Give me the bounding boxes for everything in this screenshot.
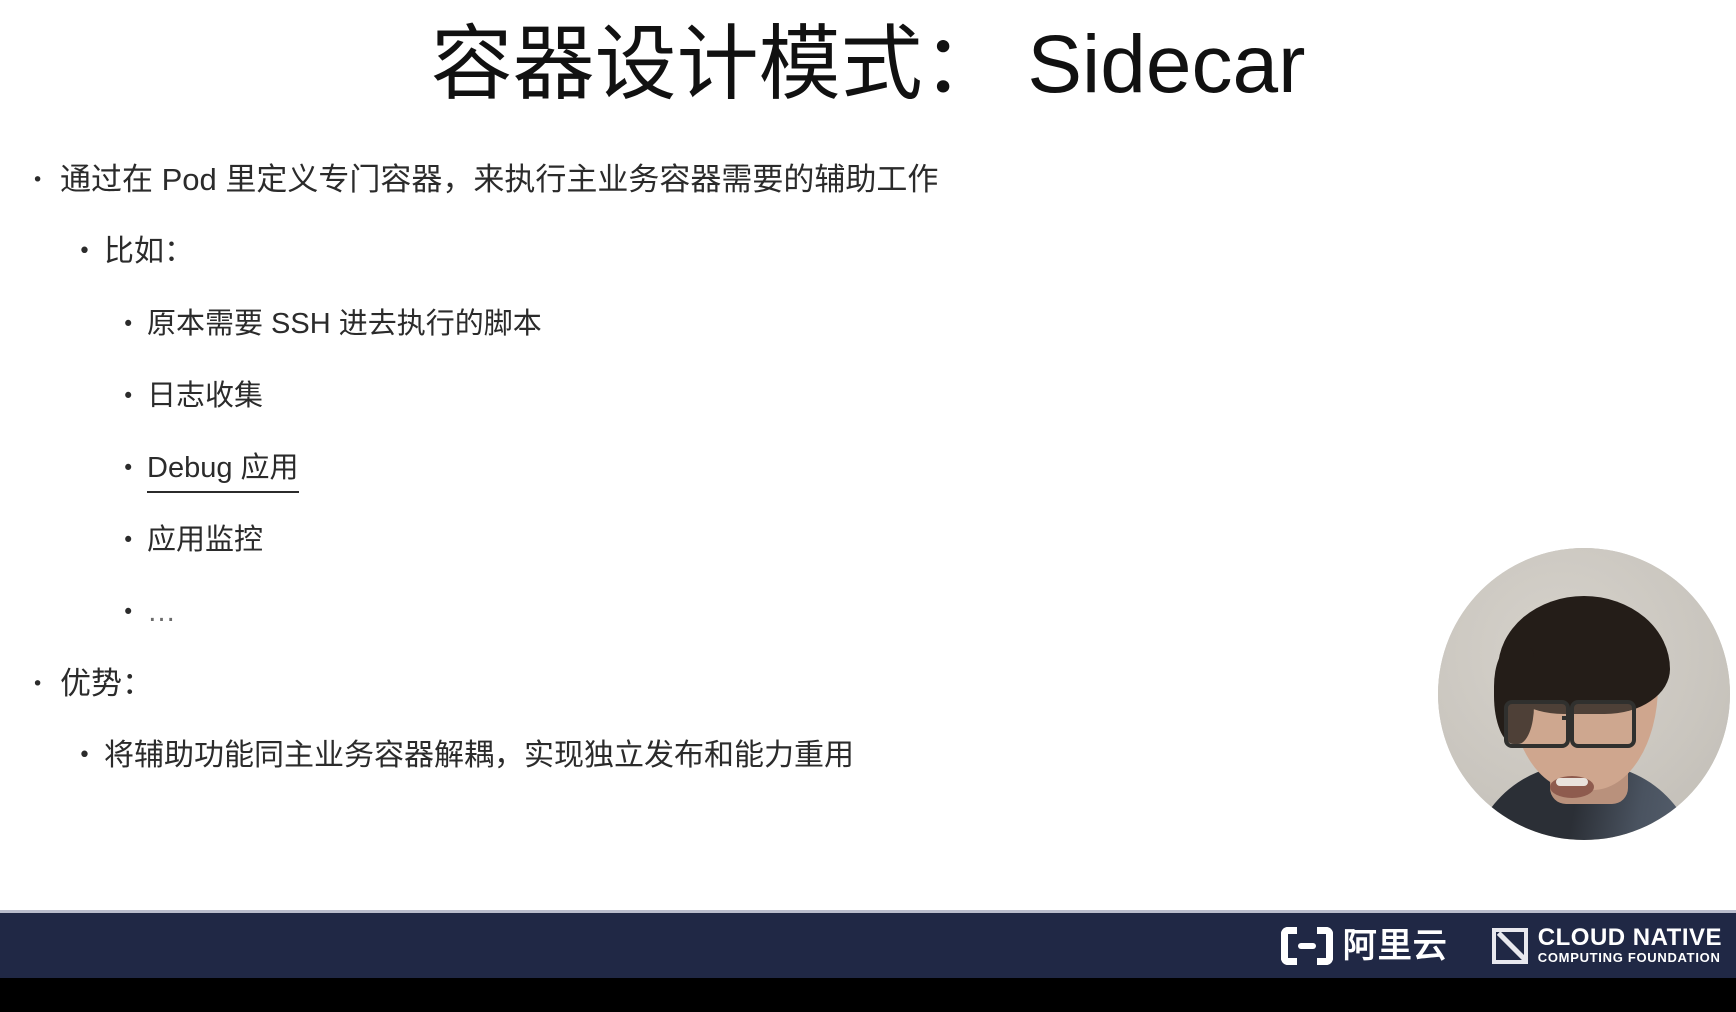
screen: 容器设计模式： Sidecar • 通过在 Pod 里定义专门容器，来执行主业务… xyxy=(0,0,1736,1012)
page-title: 容器设计模式： Sidecar xyxy=(0,18,1736,112)
bullet-marker: • xyxy=(78,736,104,776)
bullet-marker: • xyxy=(122,520,147,560)
list-item-label: 应用监控 xyxy=(147,520,263,560)
bullet-marker: • xyxy=(122,448,147,488)
bullet-marker: • xyxy=(32,160,60,200)
list-item-label: 优势： xyxy=(60,664,153,704)
glasses-bridge xyxy=(1562,716,1572,720)
list-item: • … xyxy=(0,592,1290,664)
alibaba-cloud-wordmark: 阿里云 xyxy=(1343,929,1448,963)
list-item-label: 比如： xyxy=(104,232,194,272)
cncf-mark-icon xyxy=(1492,928,1528,964)
cncf-wordmark-line2: COMPUTING FOUNDATION xyxy=(1538,950,1722,965)
list-item: • 通过在 Pod 里定义专门容器，来执行主业务容器需要的辅助工作 xyxy=(0,160,1290,232)
letterbox-bar xyxy=(0,978,1736,1012)
list-item: • 日志收集 xyxy=(0,376,1290,448)
bullet-marker: • xyxy=(122,376,147,416)
presenter-mouth xyxy=(1550,776,1594,798)
list-item-label: 日志收集 xyxy=(147,376,263,416)
list-item: • 应用监控 xyxy=(0,520,1290,592)
glasses-left-lens xyxy=(1504,700,1570,748)
list-item: • 原本需要 SSH 进去执行的脚本 xyxy=(0,304,1290,376)
list-item-label: 将辅助功能同主业务容器解耦，实现独立发布和能力重用 xyxy=(104,736,854,776)
footer-logo-group: 阿里云 CLOUD NATIVE COMPUTING FOUNDATION xyxy=(1281,926,1736,965)
list-item-label: 原本需要 SSH 进去执行的脚本 xyxy=(147,304,542,344)
cncf-wordmark-line1: CLOUD NATIVE xyxy=(1538,926,1722,950)
list-item: • 优势： xyxy=(0,664,1290,736)
slide-footer: 阿里云 CLOUD NATIVE COMPUTING FOUNDATION xyxy=(0,910,1736,978)
bullet-marker: • xyxy=(78,232,104,272)
bullet-marker: • xyxy=(122,304,147,344)
alibaba-cloud-mark-icon xyxy=(1281,927,1333,965)
list-item-label: Debug 应用 xyxy=(147,448,299,493)
list-item: • 比如： xyxy=(0,232,1290,304)
alibaba-cloud-logo: 阿里云 xyxy=(1281,927,1448,965)
list-item: • Debug 应用 xyxy=(0,448,1290,520)
cncf-wordmark: CLOUD NATIVE COMPUTING FOUNDATION xyxy=(1538,926,1722,965)
bullet-marker: • xyxy=(32,664,60,704)
list-item: • 将辅助功能同主业务容器解耦，实现独立发布和能力重用 xyxy=(0,736,1290,808)
cncf-logo: CLOUD NATIVE COMPUTING FOUNDATION xyxy=(1492,926,1722,965)
slide-canvas: 容器设计模式： Sidecar • 通过在 Pod 里定义专门容器，来执行主业务… xyxy=(0,0,1736,910)
glasses-right-lens xyxy=(1570,700,1636,748)
bullet-marker: • xyxy=(122,592,147,632)
bullet-list: • 通过在 Pod 里定义专门容器，来执行主业务容器需要的辅助工作 • 比如： … xyxy=(0,160,1290,808)
presenter-video-bubble[interactable] xyxy=(1438,548,1730,840)
list-item-label: 通过在 Pod 里定义专门容器，来执行主业务容器需要的辅助工作 xyxy=(60,160,938,200)
list-item-label: … xyxy=(147,592,180,632)
